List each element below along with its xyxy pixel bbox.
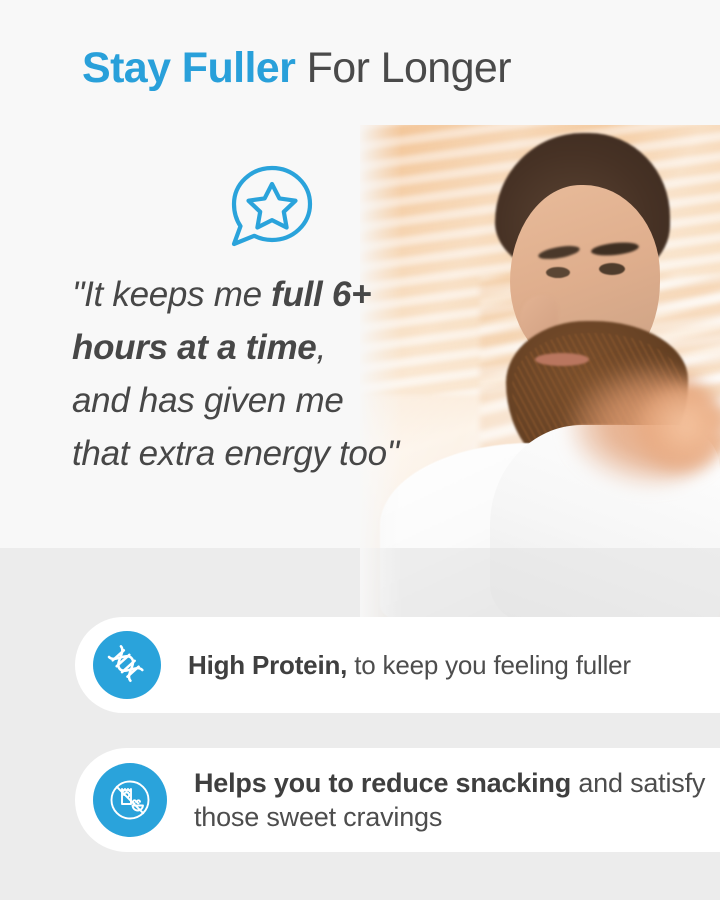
- dna-helix-icon: [93, 631, 161, 699]
- quote-line-3: and has given me: [72, 374, 542, 427]
- subject-eye-left: [546, 267, 570, 278]
- subject-lips: [535, 353, 589, 366]
- photo-bottom-shade: [360, 548, 720, 617]
- benefit-bold-label: High Protein,: [188, 650, 347, 680]
- testimonial-quote: "It keeps me full 6+ hours at a time, an…: [72, 268, 542, 480]
- page-title: Stay Fuller For Longer: [82, 42, 511, 94]
- headline-highlight: Stay Fuller: [82, 44, 295, 92]
- benefit-regular-label: to keep you feeling fuller: [347, 650, 631, 680]
- headline-rest: For Longer: [295, 44, 511, 92]
- benefit-text-reduce-snacking: Helps you to reduce snacking and satisfy…: [194, 766, 720, 834]
- benefit-bold-label: Helps you to reduce snacking: [194, 768, 571, 798]
- quote-line-2: hours at a time,: [72, 321, 542, 374]
- benefit-text-high-protein: High Protein, to keep you feeling fuller: [188, 649, 645, 682]
- benefit-card-reduce-snacking[interactable]: Helps you to reduce snacking and satisfy…: [75, 748, 720, 852]
- speech-bubble-star-icon: [224, 160, 316, 252]
- quote-line-2-regular: ,: [316, 328, 325, 367]
- quote-line-4: that extra energy too": [72, 427, 542, 480]
- quote-line-1: "It keeps me full 6+: [72, 268, 542, 321]
- quote-line-1-bold: full 6+: [271, 275, 371, 314]
- quote-line-1-regular: "It keeps me: [72, 275, 271, 314]
- benefit-card-high-protein[interactable]: High Protein, to keep you feeling fuller: [75, 617, 720, 713]
- promo-page: Stay Fuller For Longer "It keeps me full…: [0, 0, 720, 900]
- no-snacking-icon: [93, 763, 167, 837]
- subject-hand-blur: [636, 387, 720, 473]
- subject-eye-right: [599, 263, 625, 275]
- quote-line-2-bold: hours at a time: [72, 328, 316, 367]
